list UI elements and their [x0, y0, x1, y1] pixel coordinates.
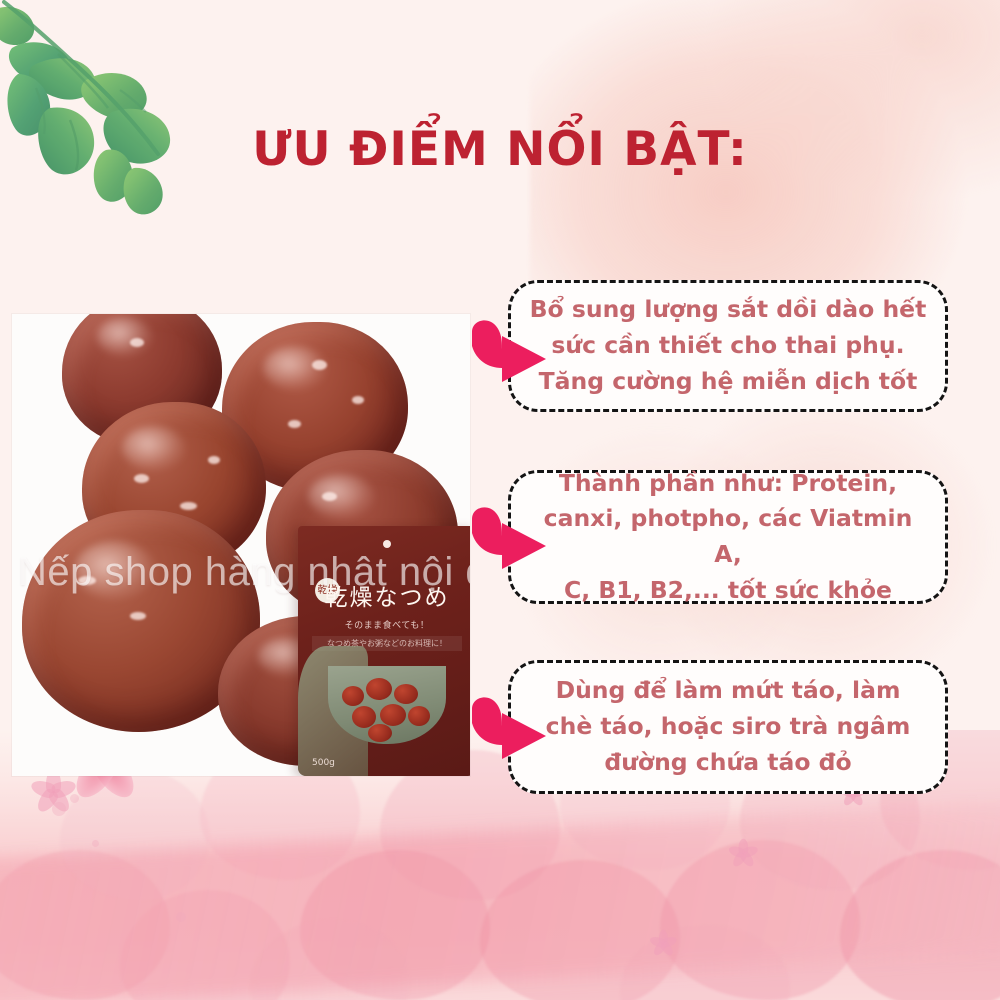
fruit-highlight: [208, 456, 220, 464]
poster-canvas: ƯU ĐIỂM NỔI BẬT: 乾燥 乾燥なつめ: [0, 0, 1000, 1000]
small-flower-icon: [649, 929, 677, 957]
leaf-branch-icon: [0, 0, 230, 230]
feature-box-2: Thành phần như: Protein, canxi, photpho,…: [508, 470, 948, 604]
feature-box-2-text: Thành phần như: Protein, canxi, photpho,…: [529, 466, 927, 609]
fruit-highlight: [130, 612, 146, 620]
feature-box-3-text: Dùng để làm mứt táo, làm chè táo, hoặc s…: [546, 673, 911, 780]
feature-box-3: Dùng để làm mứt táo, làm chè táo, hoặc s…: [508, 660, 948, 794]
fruit-highlight: [180, 502, 197, 510]
bokeh-dot: [52, 802, 66, 816]
bokeh-dot: [92, 840, 99, 847]
package-berry: [366, 678, 392, 700]
feature-line: Tăng cường hệ miễn dịch tốt: [530, 364, 927, 400]
photo-watermark: Nếp shop hàng nhật nội địa: [18, 550, 470, 595]
package-berry: [368, 724, 392, 742]
curved-arrow-right-icon: [462, 695, 548, 771]
bokeh-dot: [176, 912, 186, 922]
fruit-highlight: [288, 420, 301, 428]
fruit-highlight: [312, 360, 327, 370]
feature-line: chè táo, hoặc siro trà ngâm: [546, 709, 911, 745]
feature-line: Bổ sung lượng sắt dồi dào hết: [530, 292, 927, 328]
package-berry: [380, 704, 406, 726]
fruit-highlight: [322, 492, 337, 501]
package-berry: [408, 706, 430, 726]
package-subtitle-1: そのまま食べても！: [298, 618, 470, 631]
feature-line: Thành phần như: Protein,: [529, 466, 927, 502]
fruit-highlight: [352, 396, 364, 404]
fruit-highlight: [134, 474, 149, 483]
photo-background: 乾燥 乾燥なつめ そのまま食べても！ なつめ茶やお粥などのお料理に！ 500g …: [12, 314, 470, 776]
package-hang-hole: [383, 540, 391, 548]
feature-line: C, B1, B2,... tốt sức khỏe: [529, 573, 927, 609]
page-title: ƯU ĐIỂM NỔI BẬT:: [0, 122, 1000, 177]
feature-line: sức cần thiết cho thai phụ.: [530, 328, 927, 364]
package-berry: [342, 686, 364, 706]
package-berry: [394, 684, 418, 704]
curved-arrow-right-icon: [462, 505, 548, 581]
small-flower-icon: [728, 838, 758, 868]
curved-arrow-right-icon: [462, 318, 548, 394]
feature-box-1: Bổ sung lượng sắt dồi dào hết sức cần th…: [508, 280, 948, 412]
bokeh-dot: [70, 794, 79, 803]
package-weight: 500g: [312, 758, 335, 768]
feature-line: Dùng để làm mứt táo, làm: [546, 673, 911, 709]
product-photo: 乾燥 乾燥なつめ そのまま食べても！ なつめ茶やお粥などのお料理に！ 500g …: [12, 314, 470, 776]
fruit-highlight: [130, 338, 144, 347]
feature-line: canxi, photpho, các Viatmin A,: [529, 501, 927, 572]
feature-line: đường chứa táo đỏ: [546, 745, 911, 781]
feature-box-1-text: Bổ sung lượng sắt dồi dào hết sức cần th…: [530, 292, 927, 399]
